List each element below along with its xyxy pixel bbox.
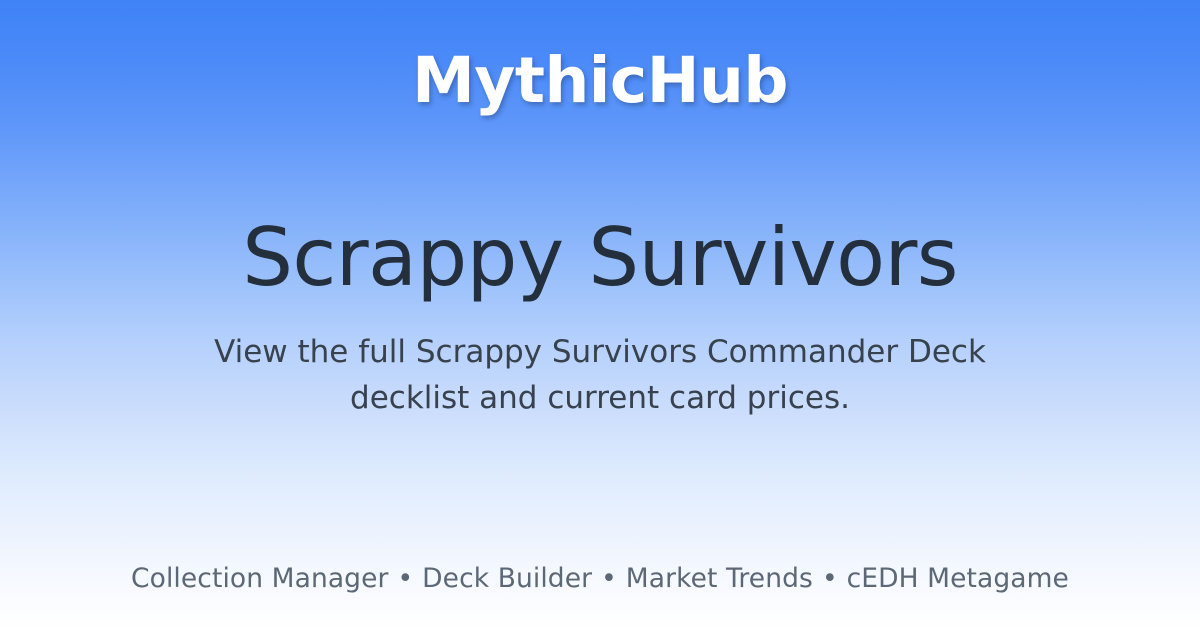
footer-item-cedh-metagame: cEDH Metagame: [847, 563, 1069, 595]
share-card: MythicHub Scrappy Survivors View the ful…: [0, 0, 1200, 630]
footer-item-deck-builder: Deck Builder: [422, 563, 592, 595]
hero-section: Scrappy Survivors View the full Scrappy …: [0, 215, 1200, 422]
brand-name: MythicHub: [412, 49, 788, 112]
bullet-separator-icon: •: [389, 563, 423, 595]
page-subtitle: View the full Scrappy Survivors Commande…: [205, 330, 995, 421]
brand-header: MythicHub: [0, 0, 1200, 160]
page-title: Scrappy Survivors: [242, 215, 958, 301]
footer-item-market-trends: Market Trends: [626, 563, 813, 595]
footer-item-collection-manager: Collection Manager: [131, 563, 388, 595]
footer-feature-list: Collection Manager • Deck Builder • Mark…: [0, 563, 1200, 595]
bullet-separator-icon: •: [592, 563, 626, 595]
bullet-separator-icon: •: [813, 563, 847, 595]
